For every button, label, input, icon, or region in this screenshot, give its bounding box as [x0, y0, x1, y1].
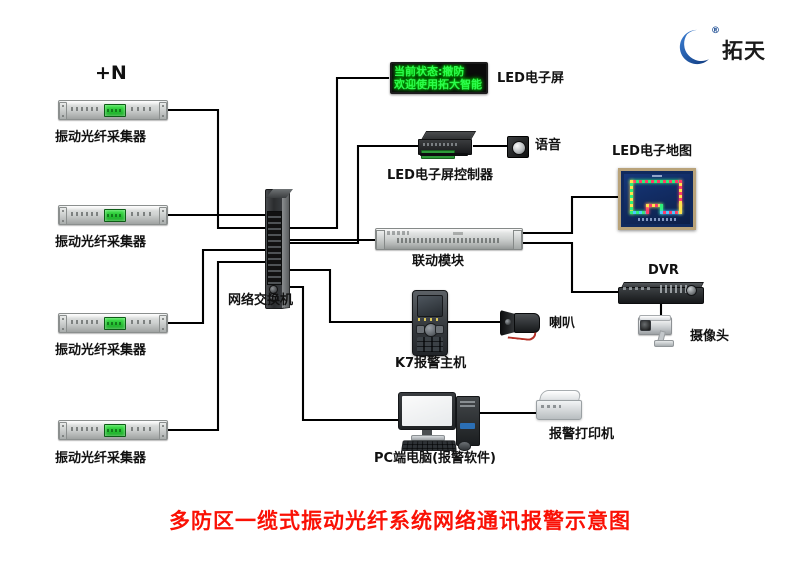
- brand-logo: ® 拓天: [678, 28, 790, 70]
- plus-n-annotation: +N: [95, 64, 127, 84]
- printer-icon[interactable]: [536, 390, 582, 420]
- ledmap-label: LED电子地图: [612, 145, 692, 159]
- collector2-label: 振动光纤采集器: [55, 236, 146, 250]
- led-map-icon[interactable]: [618, 168, 696, 230]
- rack-collector-icon[interactable]: [58, 100, 168, 120]
- dvr-label: DVR: [648, 264, 679, 278]
- cctv-camera-icon[interactable]: [638, 315, 684, 349]
- collector1-label: 振动光纤采集器: [55, 131, 146, 145]
- horn-label: 喇叭: [549, 317, 575, 331]
- ledscreen-label: LED电子屏: [497, 72, 564, 86]
- printer-label: 报警打印机: [549, 428, 614, 442]
- ledctrl-label: LED电子屏控制器: [387, 169, 493, 183]
- led-display-icon[interactable]: 当前状态:撤防 欢迎使用拓大智能: [390, 62, 488, 94]
- voice-label: 语音: [535, 139, 561, 153]
- rack-collector-icon[interactable]: [58, 420, 168, 440]
- linkage-module-icon[interactable]: [375, 228, 523, 250]
- led-line-2: 欢迎使用拓大智能: [394, 78, 484, 91]
- led-line-1: 当前状态:撤防: [394, 65, 484, 78]
- diagram-canvas: ® 拓天 +N 振动光纤采集器 振动光纤采集器 振动光纤采集器 振动光纤采集器 …: [0, 0, 800, 579]
- voice-speaker-icon[interactable]: [507, 136, 529, 158]
- page-title: 多防区一缆式振动光纤系统网络通讯报警示意图: [0, 505, 800, 535]
- camera-label: 摄像头: [690, 330, 729, 344]
- linkage-label: 联动模块: [412, 255, 464, 269]
- pc-label: PC端电脑(报警软件): [374, 452, 496, 466]
- collector4-label: 振动光纤采集器: [55, 452, 146, 466]
- desktop-pc-icon[interactable]: [398, 392, 484, 450]
- siren-horn-icon[interactable]: [500, 307, 546, 339]
- switch-label: 网络交换机: [228, 294, 293, 308]
- registered-mark-icon: ®: [711, 26, 720, 36]
- rack-collector-icon[interactable]: [58, 313, 168, 333]
- led-controller-icon[interactable]: [418, 131, 474, 157]
- k7-label: K7报警主机: [395, 357, 466, 371]
- alarm-host-icon[interactable]: [412, 290, 448, 356]
- brand-name: 拓天: [722, 35, 766, 65]
- collector3-label: 振动光纤采集器: [55, 344, 146, 358]
- rack-collector-icon[interactable]: [58, 205, 168, 225]
- network-switch-icon[interactable]: [265, 189, 289, 307]
- dvr-icon[interactable]: [618, 282, 702, 304]
